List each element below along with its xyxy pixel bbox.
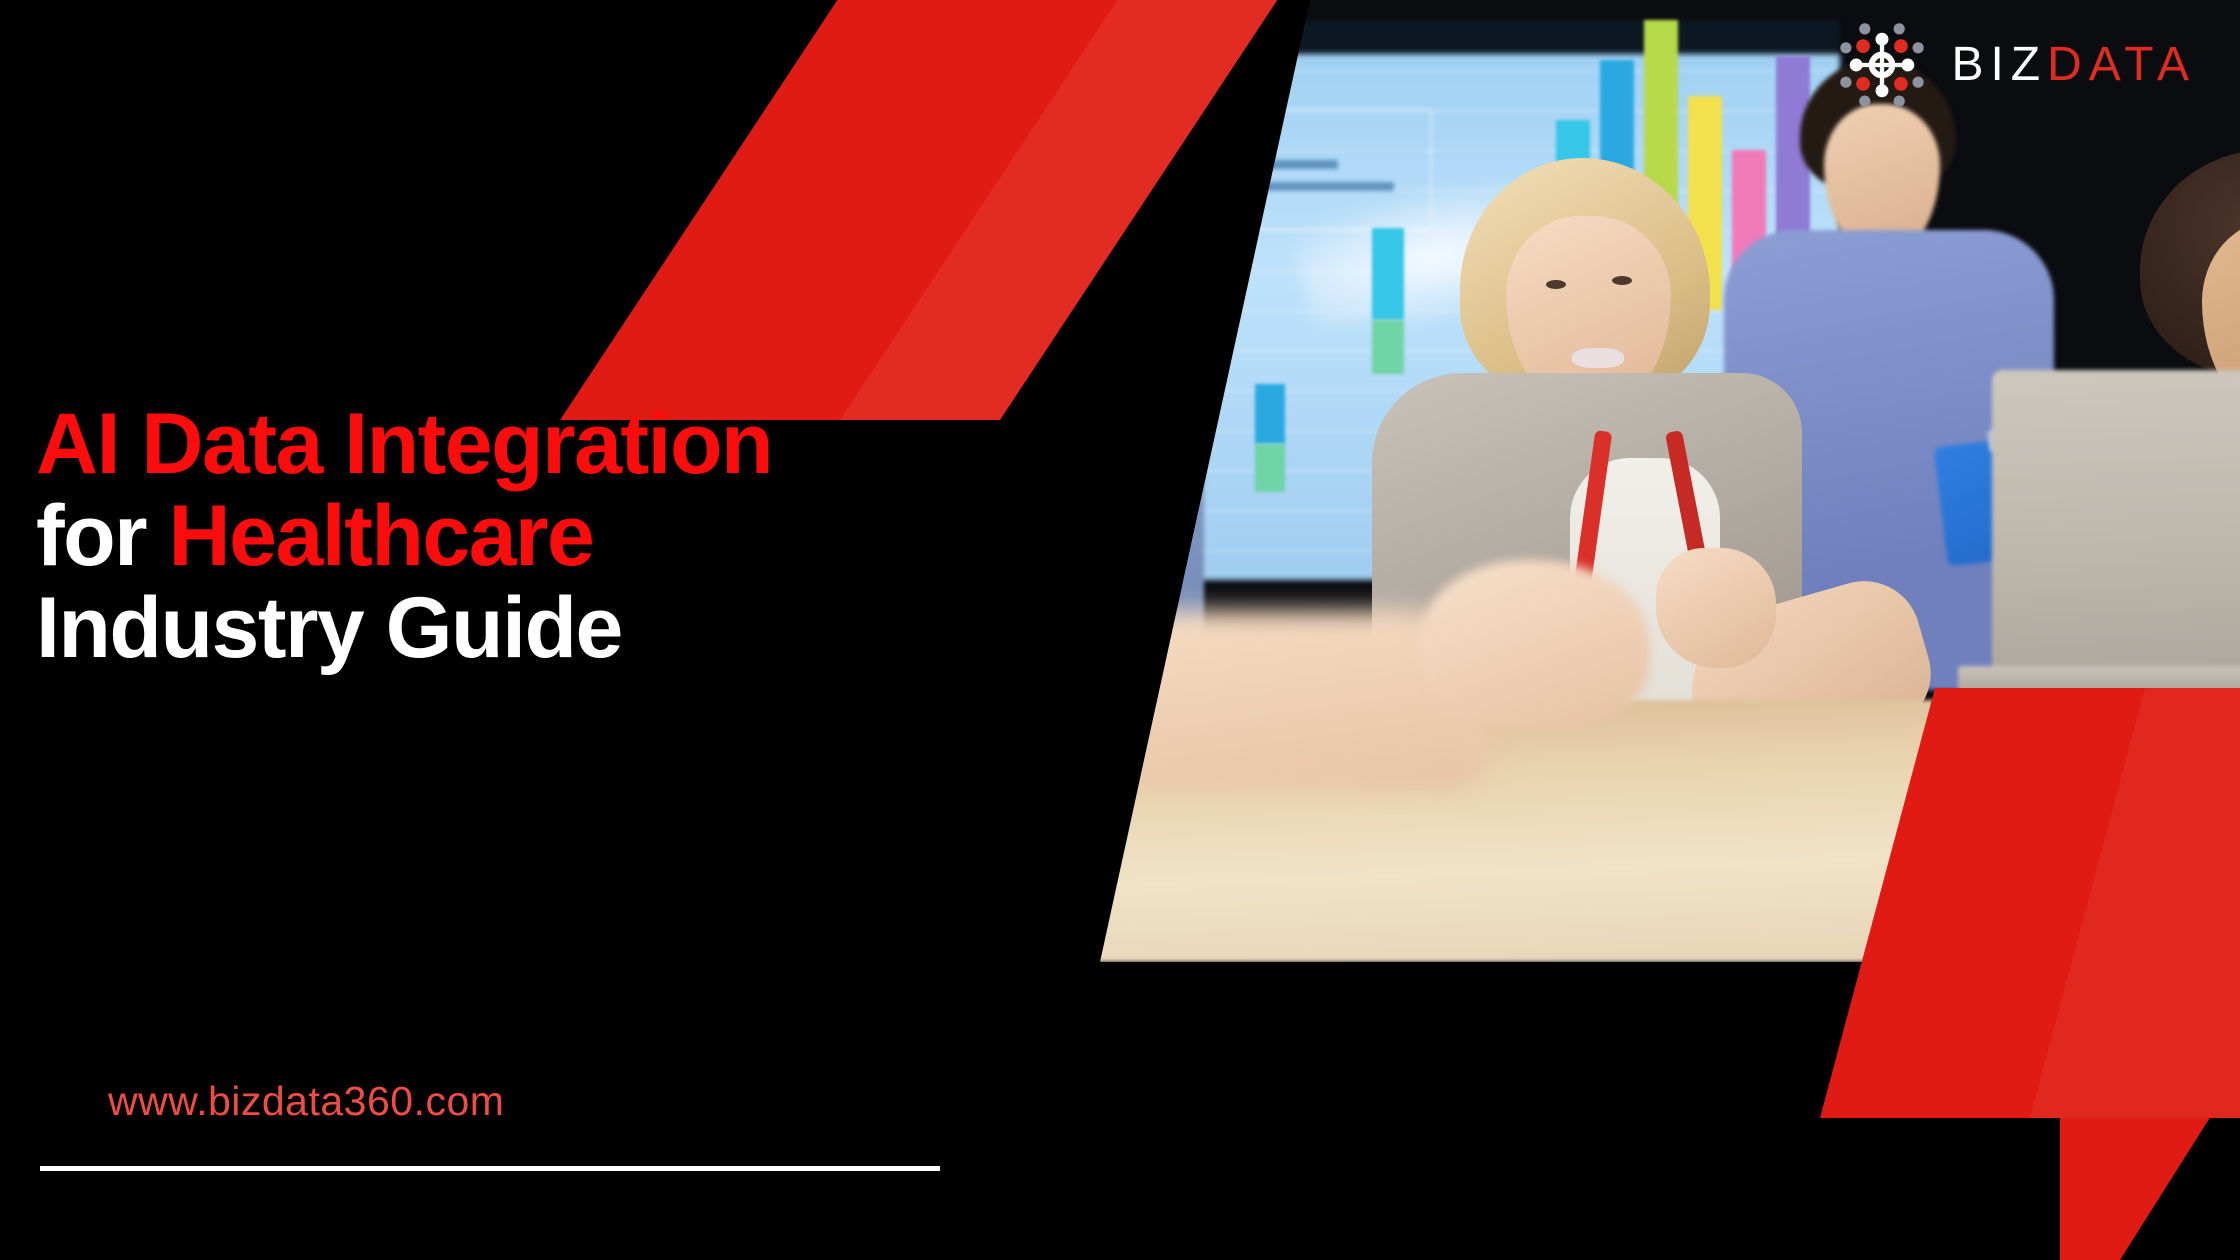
brand-wordmark: BIZDATA [1951,41,2196,89]
legend-label-american-indian [1188,182,1394,191]
legend-label-hispanic [1188,204,1246,213]
page-title-line-2: for Healthcare [36,490,896,582]
legend-swatch-asian-pacific-islander [1172,156,1181,172]
legend-swatch-hispanic [1172,200,1181,216]
screen-bar [1255,444,1285,492]
legend-label-black [1188,138,1232,147]
screen-bar [1372,320,1404,374]
website-url[interactable]: www.bizdata360.com [108,1078,504,1125]
foreground-hand [1420,560,1650,730]
network-hub-icon [1839,22,1925,108]
page-title: AI Data Integration for Healthcare Indus… [36,398,896,674]
page-title-line-2-white: for [36,488,169,584]
brand-wordmark-data: DATA [2047,38,2196,91]
legend-swatch-american-indian [1172,178,1181,194]
dashboard-legend-box [1178,108,1432,230]
laptop [1992,370,2240,710]
legend-label-asian-pacific-islander [1188,160,1338,169]
page-title-line-2-red: Healthcare [169,488,594,584]
brand-wordmark-biz: BIZ [1951,38,2047,91]
page-title-line-1: AI Data Integration [36,398,896,490]
screen-bar [1372,228,1404,320]
screen-bar [1255,384,1285,444]
page-title-line-3: Industry Guide [36,582,896,674]
brand-logo[interactable]: BIZDATA [1839,22,2196,108]
footer-divider [40,1166,940,1171]
cover-banner: BIZDATA AI Data Integration for Healthca… [0,0,2240,1260]
